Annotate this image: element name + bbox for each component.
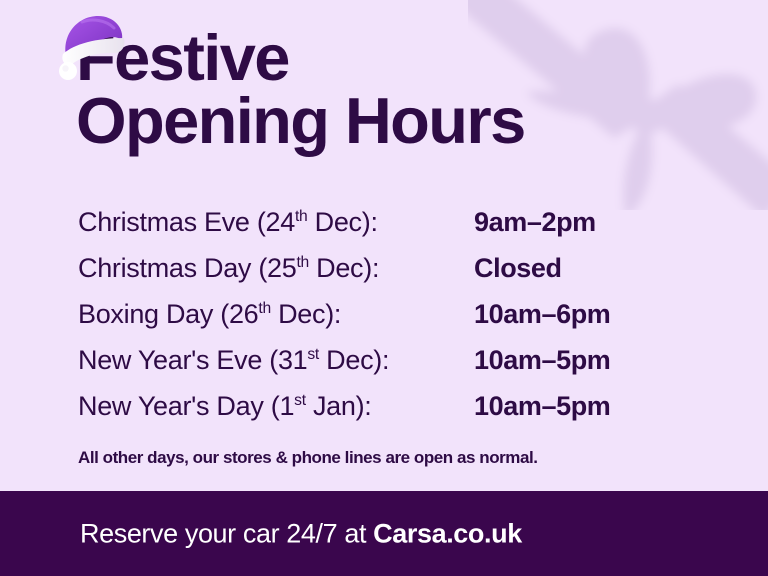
brand-name[interactable]: Carsa.co.uk [373, 518, 522, 548]
schedule-day-label: Christmas Eve (24th Dec): [78, 207, 474, 238]
schedule-day-suffix: Jan): [306, 391, 372, 421]
schedule-day-text: Boxing Day (26 [78, 299, 258, 329]
schedule-day-ordinal: st [294, 392, 306, 409]
schedule-day-ordinal: th [295, 208, 307, 225]
page-title-line-1: Festive [76, 26, 525, 89]
page-title: Festive Opening Hours [76, 26, 525, 152]
list-item: New Year's Eve (31st Dec): 10am–5pm [78, 345, 698, 391]
list-item: Christmas Eve (24th Dec): 9am–2pm [78, 207, 698, 253]
opening-hours-list: Christmas Eve (24th Dec): 9am–2pm Christ… [78, 207, 698, 437]
schedule-day-label: New Year's Eve (31st Dec): [78, 345, 474, 376]
footer-cta-prefix: Reserve your car 24/7 at [80, 518, 373, 548]
footer-cta: Reserve your car 24/7 at Carsa.co.uk [80, 518, 522, 549]
page-title-line-2: Opening Hours [76, 89, 525, 152]
schedule-day-suffix: Dec): [271, 299, 341, 329]
footer-bar: Reserve your car 24/7 at Carsa.co.uk [0, 491, 768, 576]
schedule-hours-value: Closed [474, 253, 562, 284]
schedule-day-suffix: Dec): [307, 207, 377, 237]
schedule-hours-value: 10am–5pm [474, 391, 610, 422]
list-item: New Year's Day (1st Jan): 10am–5pm [78, 391, 698, 437]
schedule-day-text: Christmas Eve (24 [78, 207, 295, 237]
list-item: Boxing Day (26th Dec): 10am–6pm [78, 299, 698, 345]
schedule-day-ordinal: st [307, 346, 319, 363]
schedule-day-ordinal: th [258, 300, 270, 317]
schedule-day-text: Christmas Day (25 [78, 253, 296, 283]
schedule-hours-value: 9am–2pm [474, 207, 596, 238]
schedule-day-label: Boxing Day (26th Dec): [78, 299, 474, 330]
schedule-day-text: New Year's Day (1 [78, 391, 294, 421]
schedule-day-text: New Year's Eve (31 [78, 345, 307, 375]
schedule-day-ordinal: th [296, 254, 308, 271]
schedule-hours-value: 10am–6pm [474, 299, 610, 330]
schedule-day-suffix: Dec): [319, 345, 389, 375]
schedule-day-label: Christmas Day (25th Dec): [78, 253, 474, 284]
footnote-text: All other days, our stores & phone lines… [78, 448, 538, 468]
schedule-day-suffix: Dec): [309, 253, 379, 283]
list-item: Christmas Day (25th Dec): Closed [78, 253, 698, 299]
schedule-day-label: New Year's Day (1st Jan): [78, 391, 474, 422]
schedule-hours-value: 10am–5pm [474, 345, 610, 376]
santa-hat-icon [52, 8, 130, 86]
festive-opening-hours-poster: Festive Opening Hours Christmas Eve (24t… [0, 0, 768, 576]
